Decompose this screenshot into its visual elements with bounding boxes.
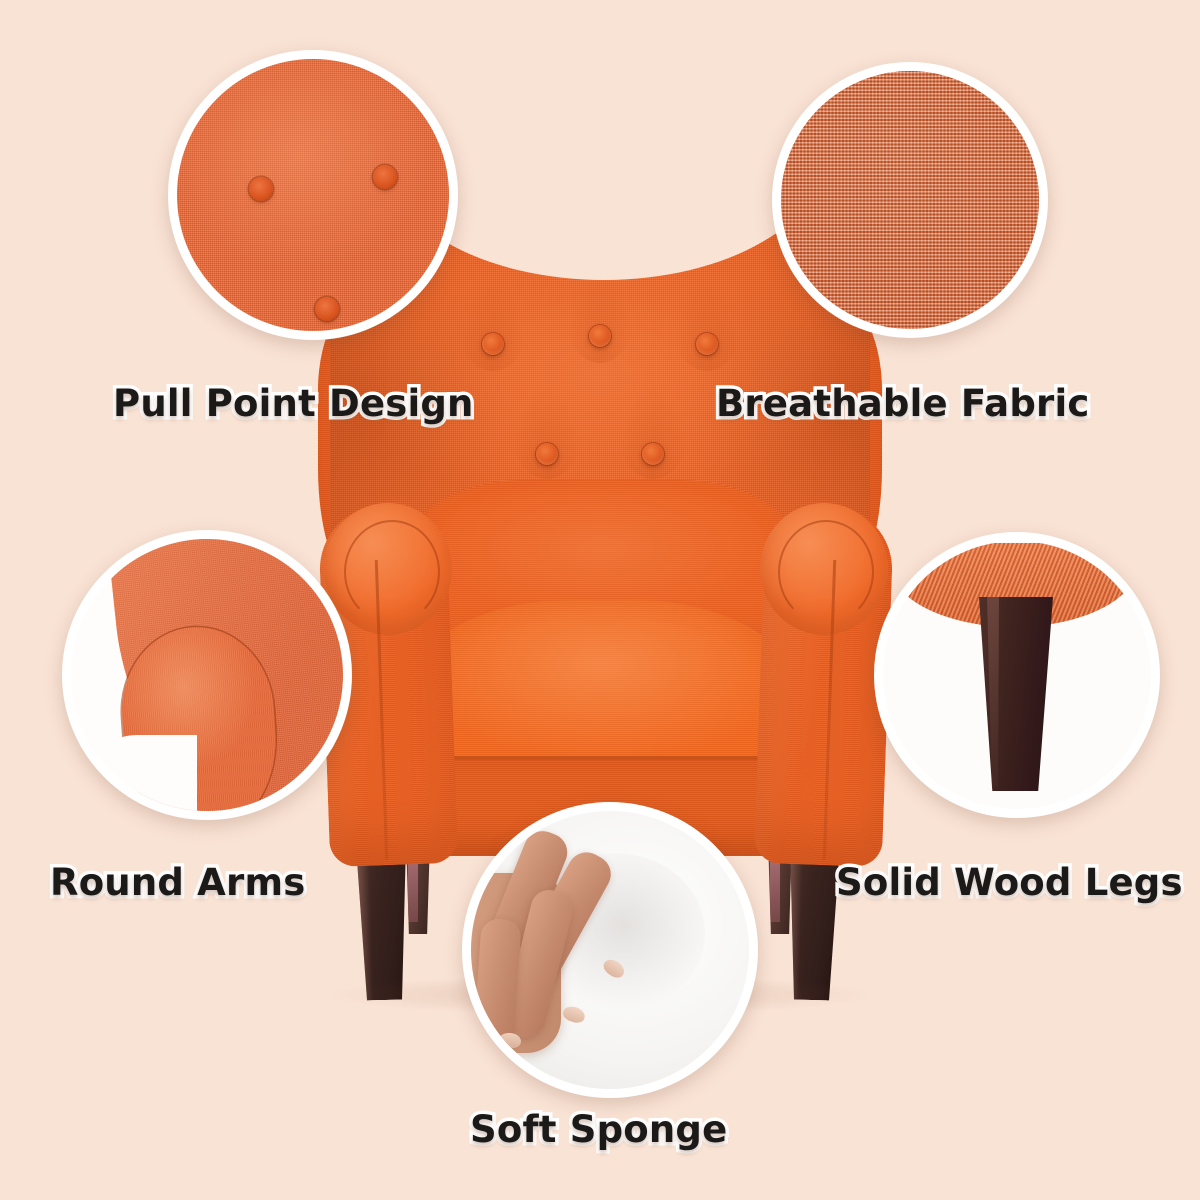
- chair-seat-seam: [400, 756, 804, 760]
- woven-fabric-macro-icon: [781, 71, 1039, 329]
- chair-arm-roll-left: [324, 503, 452, 635]
- wooden-leg-closeup-icon: [883, 541, 1151, 809]
- feature-label-soft-sponge: Soft Sponge: [470, 1108, 727, 1151]
- callout-bubble-round-arms: [62, 530, 352, 820]
- tufted-fabric-closeup-icon: [177, 59, 449, 331]
- tuft-button: [482, 333, 504, 355]
- chair-leg-front-left: [356, 844, 410, 1000]
- tuft-button: [696, 333, 718, 355]
- product-feature-infographic: Pull Point Design Breathable Fabric Roun…: [0, 0, 1200, 1200]
- callout-bubble-pull-point-design: [168, 50, 458, 340]
- chair-leg-rear-left: [406, 838, 430, 934]
- feature-label-breathable-fabric: Breathable Fabric: [716, 382, 1089, 425]
- callout-bubble-breathable-fabric: [772, 62, 1048, 338]
- chair-arm-seam-left: [344, 520, 440, 624]
- chair-arm-right: [754, 503, 894, 867]
- chair-wing-right: [786, 288, 882, 588]
- chair-arm-roll-right: [760, 503, 888, 635]
- chair-arm-piping-right: [823, 560, 836, 860]
- tuft-button: [536, 443, 558, 465]
- chair-arm-seam-right: [778, 520, 874, 624]
- chair-leg-rear-right: [768, 838, 792, 934]
- rolled-arm-closeup-icon: [71, 539, 343, 811]
- callout-bubble-solid-wood-legs: [874, 532, 1160, 818]
- callout-bubble-soft-sponge: [462, 802, 758, 1098]
- tuft-button: [589, 325, 611, 347]
- tuft-button: [642, 443, 664, 465]
- chair-back-cushion: [406, 480, 798, 660]
- chair-arm-piping-left: [375, 560, 388, 860]
- hand-pressing-foam-icon: [471, 811, 749, 1089]
- feature-label-solid-wood-legs: Solid Wood Legs: [836, 861, 1183, 904]
- chair-leg-front-right: [786, 844, 840, 1000]
- chair-seat-cushion: [398, 600, 806, 830]
- feature-label-round-arms: Round Arms: [50, 861, 305, 904]
- feature-label-pull-point-design: Pull Point Design: [113, 382, 474, 425]
